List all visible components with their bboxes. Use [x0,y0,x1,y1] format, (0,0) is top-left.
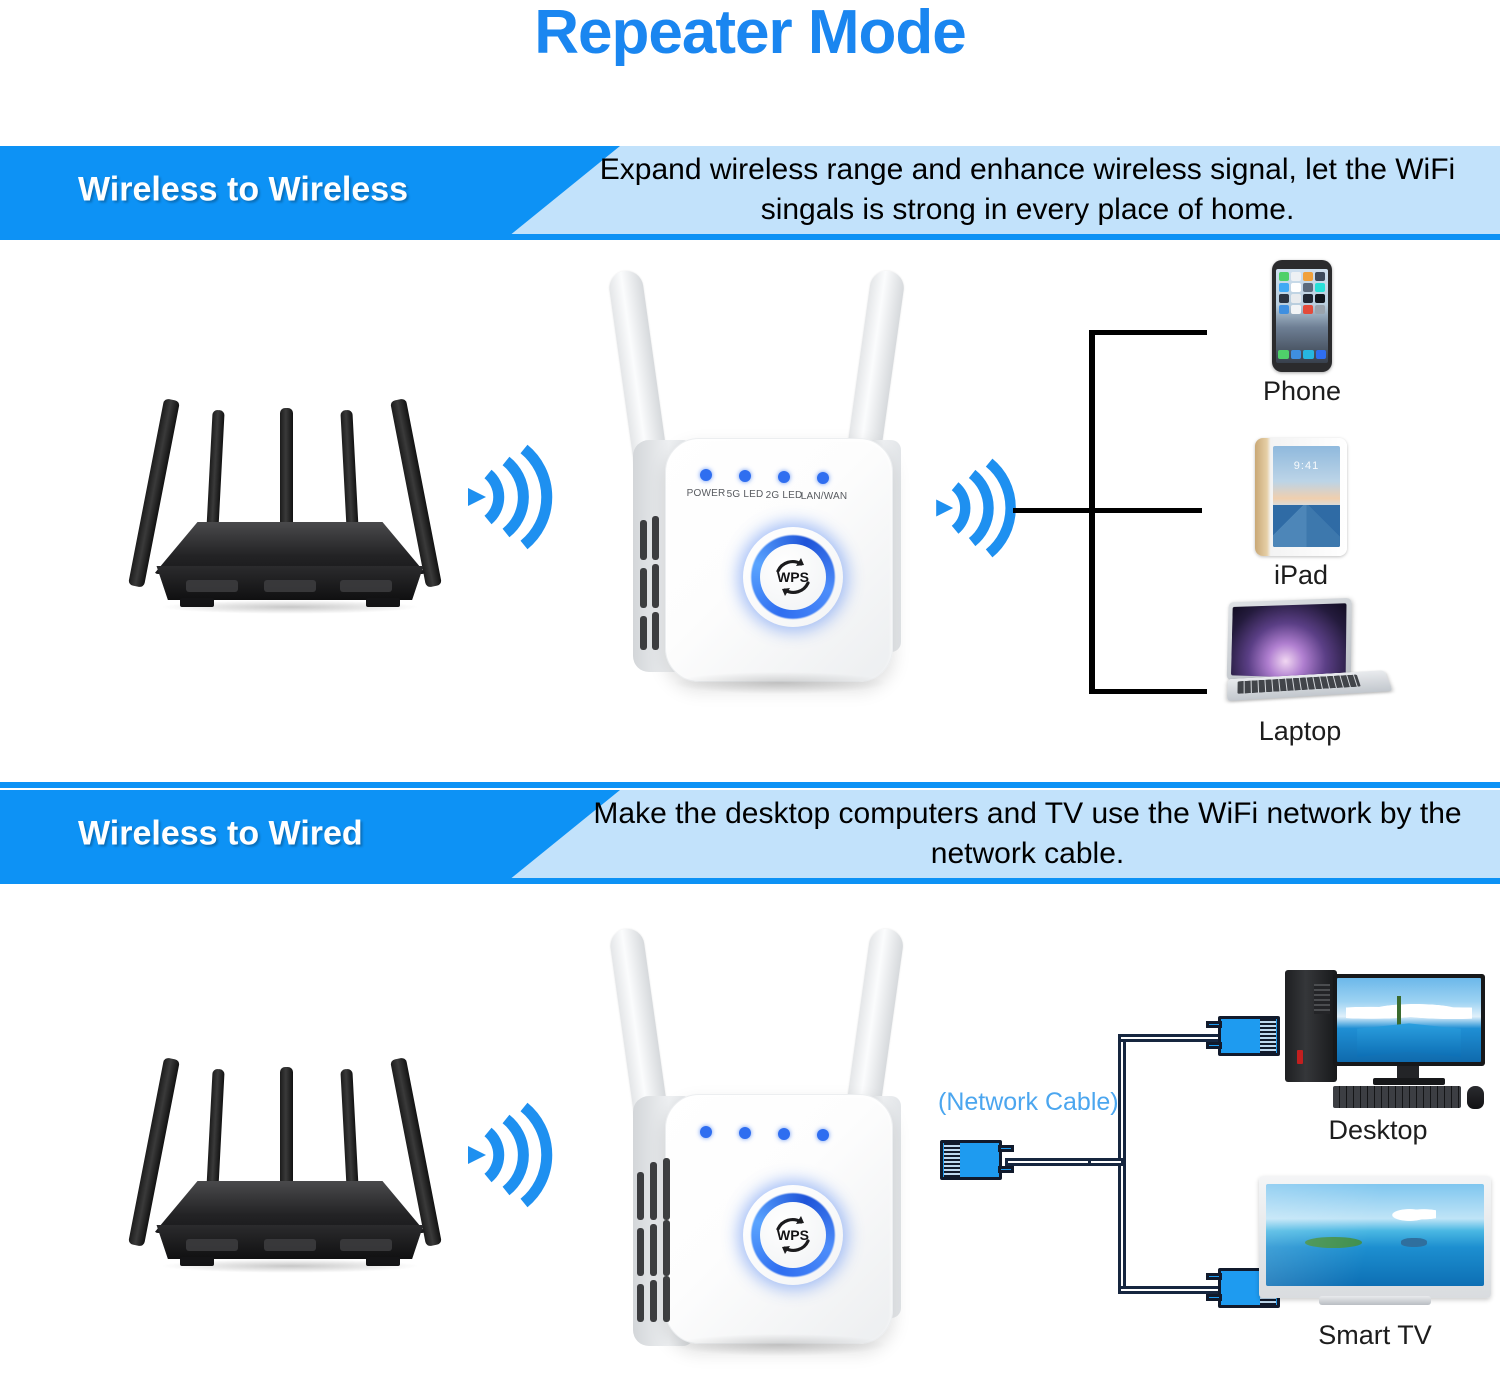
cable-trunk [1005,1158,1095,1166]
section-banner-wireless-to-wireless: Wireless to Wireless Expand wireless ran… [0,146,1500,234]
section-tag-label: Wireless to Wireless [78,171,408,210]
banner-underline [0,234,1500,240]
wifi-repeater-device-2: WPS [605,920,925,1375]
source-router [140,384,440,614]
device-label-smart-tv: Smart TV [1255,1320,1495,1351]
led-5g-2 [739,1127,751,1139]
source-router-2 [140,1043,440,1273]
wps-label-2: WPS [777,1227,809,1243]
laptop-image [1210,600,1390,712]
section-tag-label-2: Wireless to Wired [78,815,363,854]
page-title: Repeater Mode [0,2,1500,64]
device-desktop: Desktop [1258,966,1498,1146]
vent-grille-2 [635,1158,683,1328]
cable-tee [1088,1158,1124,1166]
led-lan-wan [817,472,829,484]
connector-line-laptop [1089,689,1207,694]
banner-underline-2 [0,878,1500,884]
led-5g [739,470,751,482]
device-phone: Phone [1212,260,1392,407]
wps-button[interactable]: WPS [750,534,836,620]
led-label-lan-wan: LAN/WAN [801,491,848,502]
diagram-wireless-to-wired: WPS (Network Cable) [0,888,1500,1370]
device-label-ipad: iPad [1206,560,1396,591]
connector-line-ipad [1089,508,1202,513]
wifi-repeater-device: POWER 5G LED 2G LED LAN/WAN WPS [605,262,925,717]
rj45-connector-repeater [940,1140,1002,1180]
wifi-signal-icon [462,442,554,557]
device-smart-tv: Smart TV [1255,1176,1495,1351]
smart-tv-image [1259,1176,1491,1316]
wps-refresh-icon: WPS [765,549,821,605]
diagram-wireless-to-wireless: POWER 5G LED 2G LED LAN/WAN WPS [0,244,1500,769]
led-label-power: POWER [687,488,726,499]
section-description: Expand wireless range and enhance wirele… [575,150,1480,230]
led-2g-2 [778,1128,790,1140]
led-label-2g: 2G LED [766,490,803,501]
vent-grille [638,514,684,654]
cable-branch-tv [1118,1286,1228,1294]
wifi-signal-icon-out [930,456,1018,565]
device-ipad: 9:41 iPad [1206,438,1396,591]
device-label-desktop: Desktop [1258,1115,1498,1146]
led-power-2 [700,1126,712,1138]
wifi-signal-icon-2 [462,1100,554,1215]
desktop-image [1263,966,1493,1111]
banner-overline-2 [0,782,1500,788]
section-description-2: Make the desktop computers and TV use th… [575,794,1480,874]
device-label-laptop: Laptop [1200,716,1400,747]
network-cable-label: (Network Cable) [938,1088,1119,1117]
section-banner-wireless-to-wired: Wireless to Wired Make the desktop compu… [0,790,1500,878]
device-label-phone: Phone [1212,376,1392,407]
wps-label: WPS [777,569,809,585]
wps-refresh-icon-2: WPS [765,1207,821,1263]
led-power [700,469,712,481]
led-label-5g: 5G LED [727,489,764,500]
device-laptop: Laptop [1200,600,1400,747]
connector-line-in [1013,508,1095,513]
phone-image [1272,260,1332,372]
led-2g [778,471,790,483]
ipad-image: 9:41 [1255,438,1347,556]
led-lan-wan-2 [817,1129,829,1141]
connector-line-phone [1089,330,1207,335]
cable-branch-desktop [1118,1034,1228,1042]
wps-button-2[interactable]: WPS [750,1192,836,1278]
